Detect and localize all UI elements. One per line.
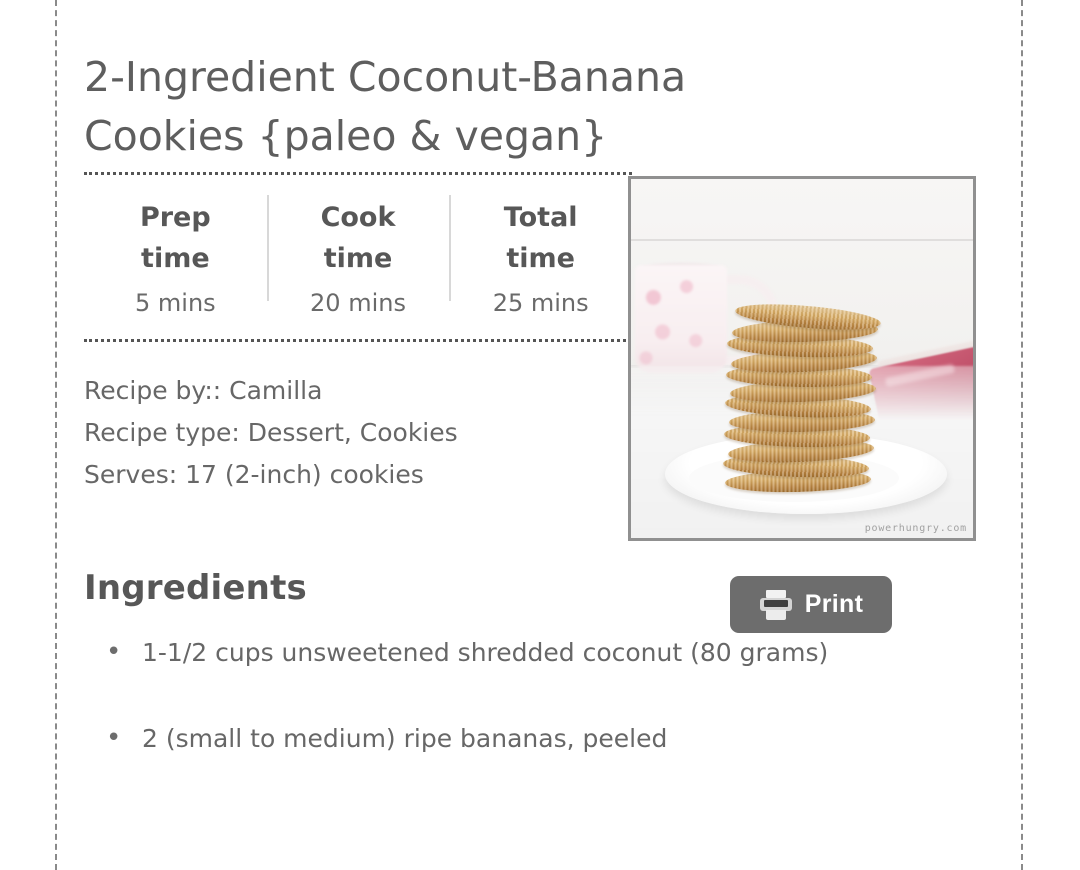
- recipe-times-table: Prep time 5 mins Cook time 20 mins Total…: [84, 172, 632, 342]
- total-time-value: 25 mins: [449, 287, 632, 319]
- total-time-cell: Total time 25 mins: [449, 175, 632, 319]
- printer-icon: [759, 590, 793, 620]
- cook-time-label: Cook time: [267, 197, 450, 279]
- list-item: 2 (small to medium) ripe bananas, peeled: [84, 718, 964, 760]
- cook-time-value: 20 mins: [267, 287, 450, 319]
- cook-time-label-line1: Cook: [321, 202, 396, 233]
- prep-time-label: Prep time: [84, 197, 267, 279]
- prep-time-label-line2: time: [141, 243, 210, 274]
- print-button-label: Print: [805, 592, 863, 617]
- recipe-card: 2-Ingredient Coconut-Banana Cookies {pal…: [84, 0, 994, 864]
- prep-time-value: 5 mins: [84, 287, 267, 319]
- total-time-label: Total time: [449, 197, 632, 279]
- recipe-type: Recipe type: Dessert, Cookies: [84, 412, 644, 454]
- print-button[interactable]: Print: [730, 576, 892, 633]
- photo-watermark: powerhungry.com: [865, 523, 967, 534]
- list-item: 1-1/2 cups unsweetened shredded coconut …: [84, 632, 964, 674]
- total-time-label-line1: Total: [504, 202, 578, 233]
- cook-time-label-line2: time: [324, 243, 393, 274]
- prep-time-cell: Prep time 5 mins: [84, 175, 267, 319]
- cook-time-cell: Cook time 20 mins: [267, 175, 450, 319]
- photo-wall-line: [631, 239, 973, 241]
- recipe-photo-image: powerhungry.com: [631, 179, 973, 538]
- recipe-author: Recipe by:: Camilla: [84, 370, 644, 412]
- page-title: 2-Ingredient Coconut-Banana Cookies {pal…: [84, 48, 844, 166]
- recipe-meta: Recipe by:: Camilla Recipe type: Dessert…: [84, 370, 644, 496]
- cookie-stack: [723, 306, 883, 492]
- recipe-photo: powerhungry.com: [628, 176, 976, 541]
- ingredients-heading: Ingredients: [84, 568, 307, 608]
- floral-mug: [635, 265, 727, 373]
- prep-time-label-line1: Prep: [140, 202, 211, 233]
- ingredients-list: 1-1/2 cups unsweetened shredded coconut …: [84, 632, 964, 804]
- recipe-serves: Serves: 17 (2-inch) cookies: [84, 454, 644, 496]
- total-time-label-line2: time: [506, 243, 575, 274]
